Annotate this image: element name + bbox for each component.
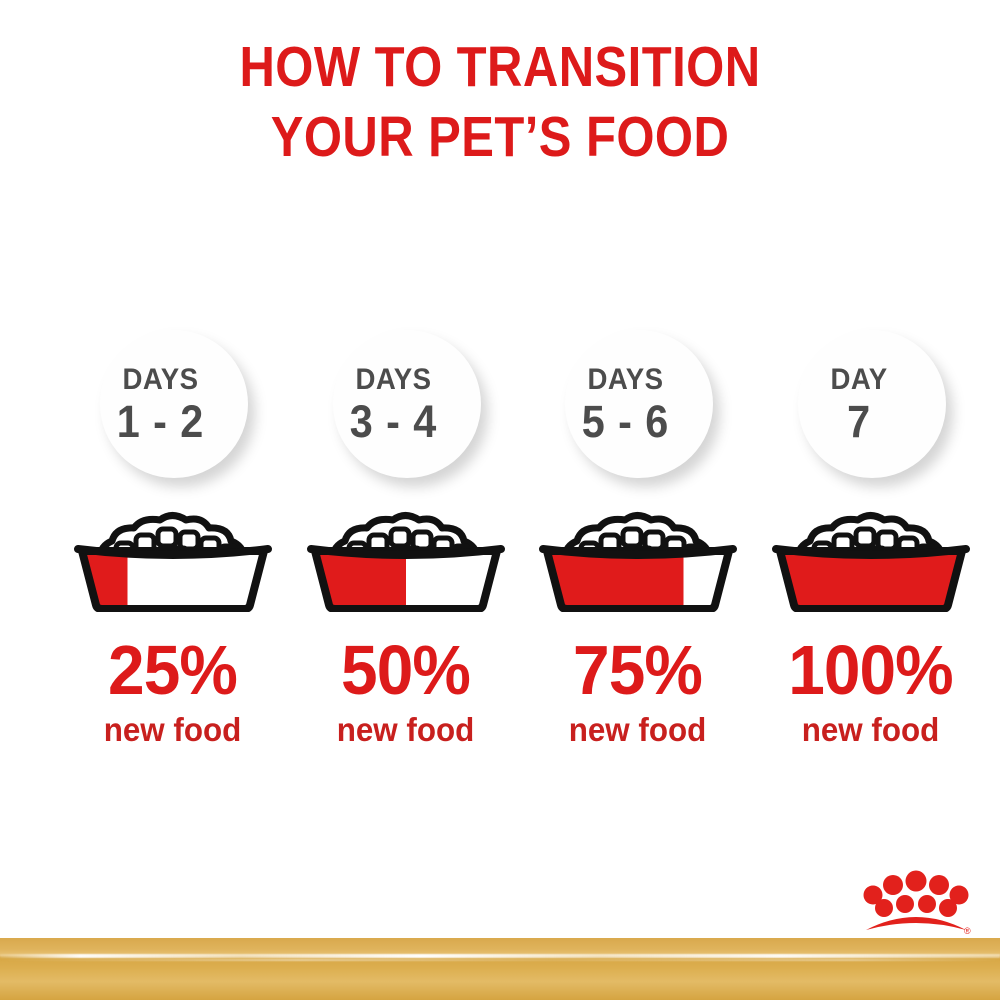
title-line-1: HOW TO TRANSITION [70, 32, 930, 102]
food-bowl-icon-2 [301, 507, 511, 612]
day-badge-number-1: 1 - 2 [117, 399, 204, 444]
step-column-3: DAYS 5 - 6 [520, 322, 755, 792]
food-bowl-icon-1 [68, 507, 278, 612]
percent-block-1: 25% new food [55, 634, 290, 748]
percent-block-2: 50% new food [288, 634, 523, 748]
transition-steps: DAYS 1 - 2 [0, 322, 1000, 792]
step-column-4: DAY 7 [753, 322, 988, 792]
percent-value-1: 25% [62, 634, 283, 706]
crown-icon: ® [860, 868, 972, 938]
gold-footer-band [0, 938, 1000, 1000]
day-badge-2: DAYS 3 - 4 [333, 330, 481, 478]
percent-sublabel-4: new food [759, 712, 982, 748]
percent-sublabel-1: new food [61, 712, 284, 748]
gold-band-streak-secondary [0, 959, 1000, 961]
infographic-page: HOW TO TRANSITION YOUR PET’S FOOD DAYS 1… [0, 0, 1000, 1000]
day-badge-number-3: 5 - 6 [582, 399, 669, 444]
day-badge-word-3: DAYS [582, 365, 669, 395]
day-badge-1: DAYS 1 - 2 [100, 330, 248, 478]
day-badge-3: DAYS 5 - 6 [565, 330, 713, 478]
percent-value-3: 75% [527, 634, 748, 706]
day-badge-number-4: 7 [830, 399, 887, 444]
percent-value-2: 50% [295, 634, 516, 706]
percent-value-4: 100% [760, 634, 981, 706]
title-line-2: YOUR PET’S FOOD [70, 102, 930, 172]
step-column-1: DAYS 1 - 2 [55, 322, 290, 792]
percent-sublabel-2: new food [294, 712, 517, 748]
percent-block-4: 100% new food [753, 634, 988, 748]
day-badge-word-2: DAYS [350, 365, 437, 395]
food-bowl-2 [288, 492, 523, 612]
day-badge-number-2: 3 - 4 [350, 399, 437, 444]
royal-canin-crown-logo: ® [860, 868, 972, 938]
trademark-mark: ® [964, 926, 971, 936]
percent-sublabel-3: new food [526, 712, 749, 748]
day-badge-word-4: DAY [830, 365, 887, 395]
food-bowl-4 [753, 492, 988, 612]
percent-block-3: 75% new food [520, 634, 755, 748]
food-bowl-1 [55, 492, 290, 612]
food-bowl-icon-3 [533, 507, 743, 612]
step-column-2: DAYS 3 - 4 [288, 322, 523, 792]
food-bowl-3 [520, 492, 755, 612]
day-badge-4: DAY 7 [798, 330, 946, 478]
gold-band-streak [0, 954, 1000, 958]
page-title: HOW TO TRANSITION YOUR PET’S FOOD [0, 32, 1000, 172]
day-badge-word-1: DAYS [117, 365, 204, 395]
food-bowl-icon-4 [766, 507, 976, 612]
